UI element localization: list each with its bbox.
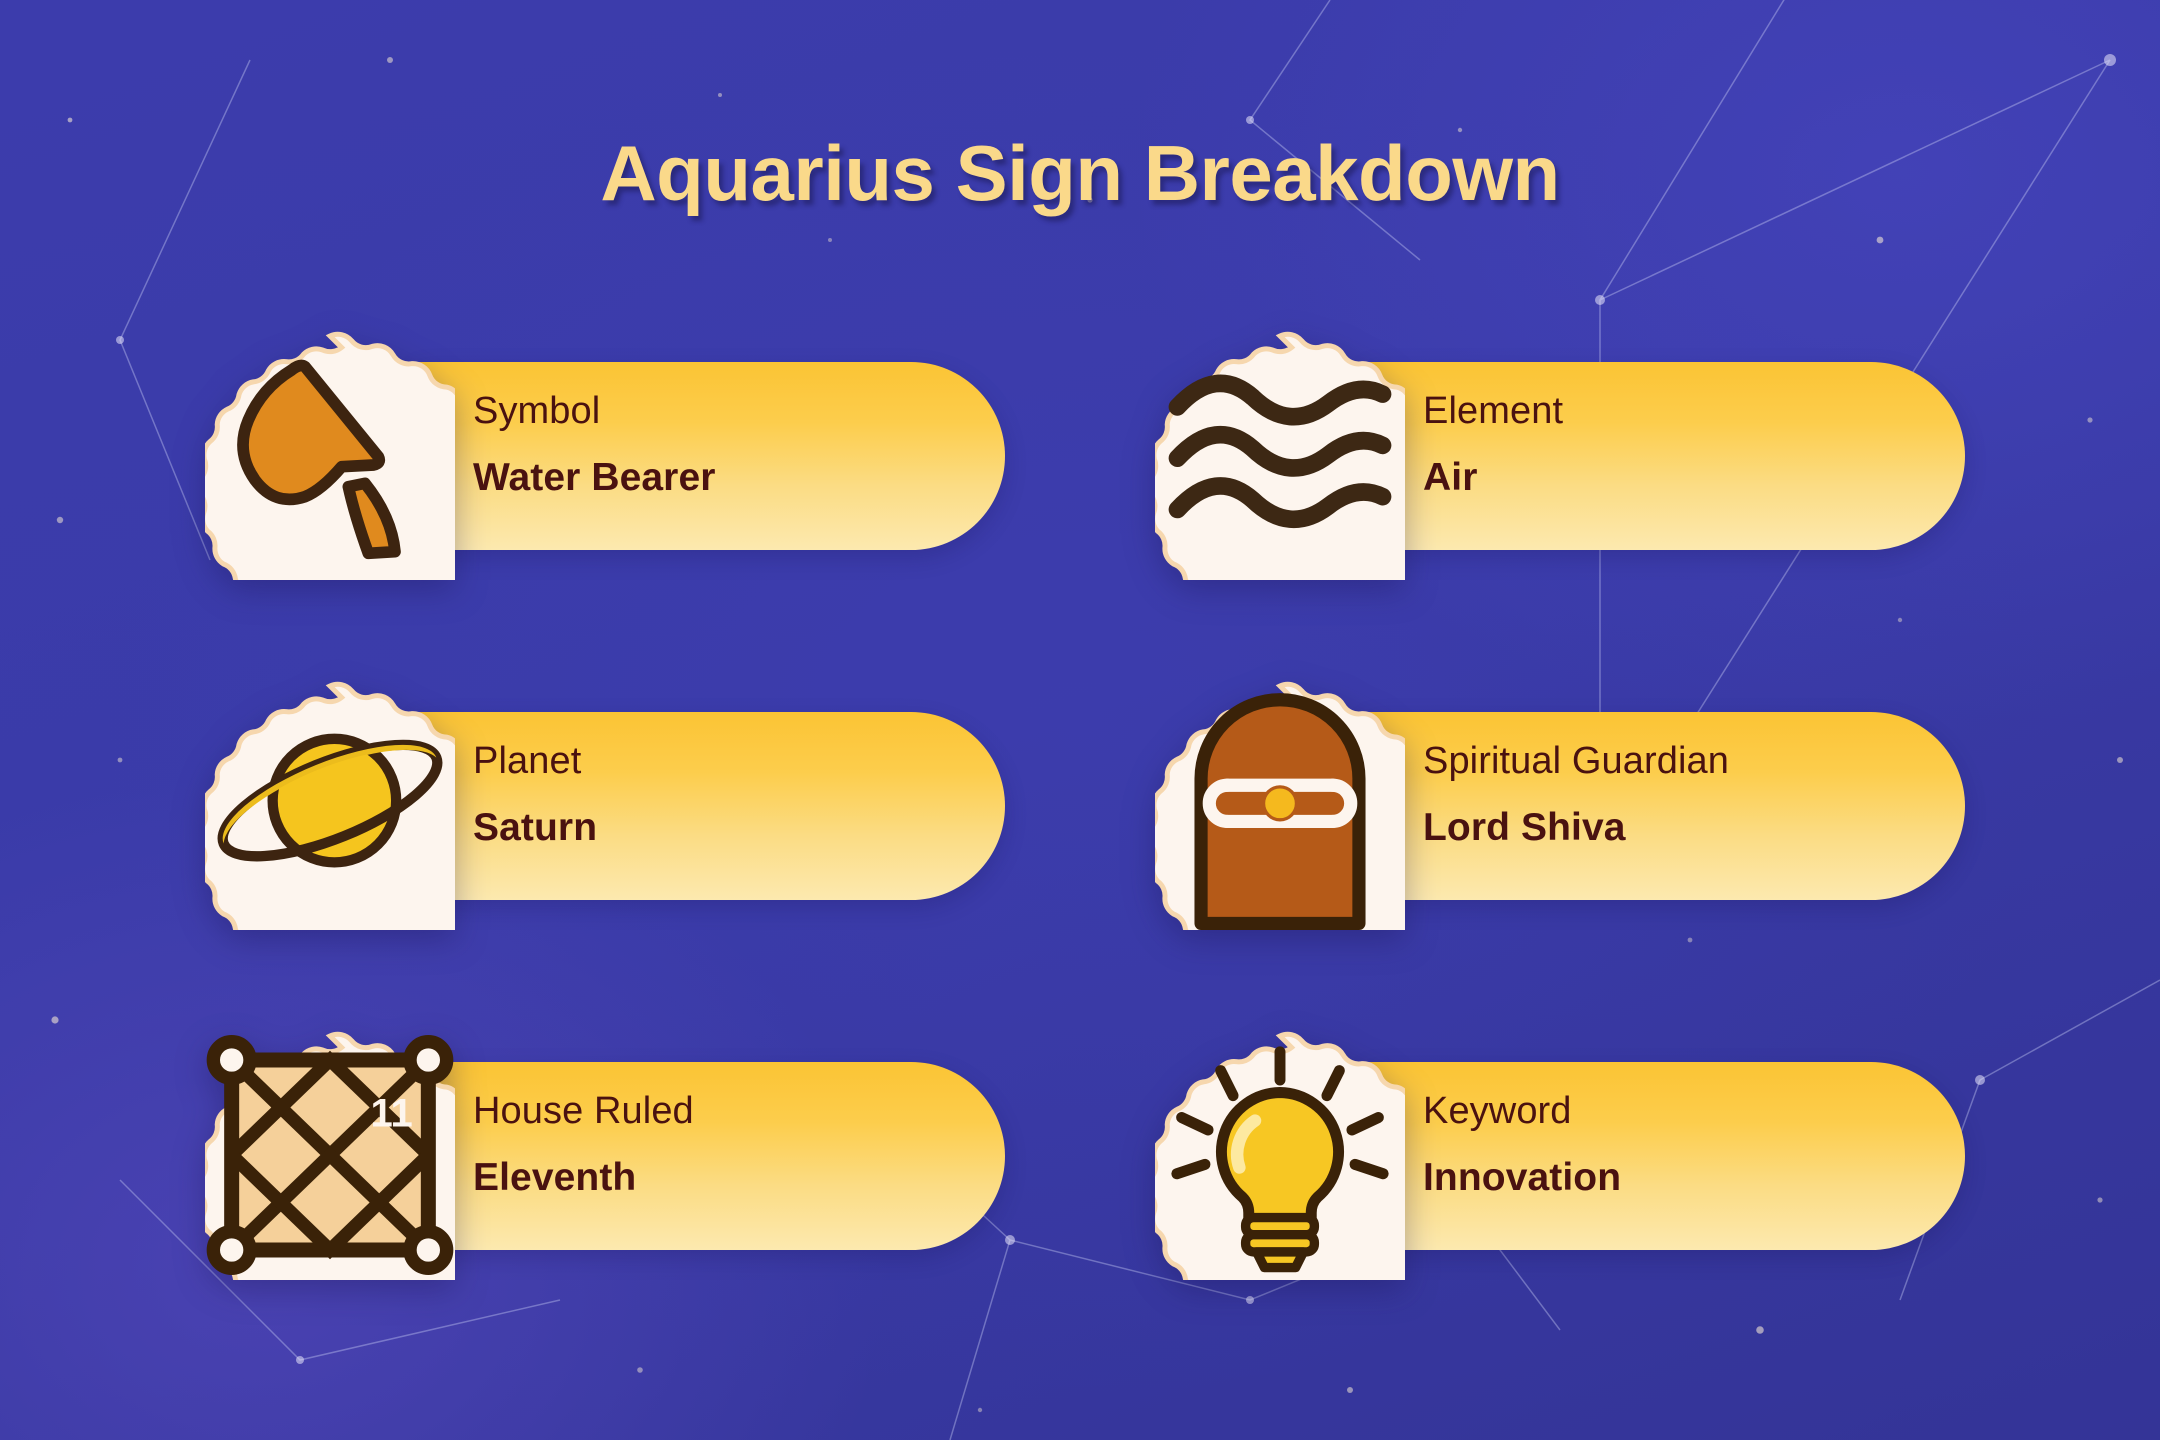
card-planet[interactable]: Planet Saturn	[205, 680, 1005, 930]
card-value: Lord Shiva	[1423, 808, 1943, 847]
badge-keyword	[1155, 1030, 1405, 1280]
card-label: Element	[1423, 392, 1943, 430]
card-symbol[interactable]: Symbol Water Bearer	[205, 330, 1005, 580]
poster-background: Aquarius Sign Breakdown Symbol Water Bea…	[0, 0, 2160, 1440]
card-text: Symbol Water Bearer	[473, 392, 993, 497]
grid-row: Planet Saturn	[0, 680, 2160, 1030]
card-label: Spiritual Guardian	[1423, 742, 1943, 780]
grid-row: House Ruled Eleventh	[0, 1030, 2160, 1380]
card-house-ruled[interactable]: House Ruled Eleventh	[205, 1030, 1005, 1280]
saturn-planet-icon	[205, 680, 455, 930]
badge-house-ruled: 11	[205, 1030, 455, 1280]
badge-element	[1155, 330, 1405, 580]
card-value: Water Bearer	[473, 458, 993, 497]
card-spiritual-guardian[interactable]: Spiritual Guardian Lord Shiva	[1155, 680, 1955, 930]
card-keyword[interactable]: Keyword Innovation	[1155, 1030, 1955, 1280]
attribute-grid: Symbol Water Bearer	[0, 330, 2160, 1380]
lightbulb-icon	[1155, 1030, 1405, 1280]
card-element[interactable]: Element Air	[1155, 330, 1955, 580]
card-text: Spiritual Guardian Lord Shiva	[1423, 742, 1943, 847]
card-label: House Ruled	[473, 1092, 993, 1130]
shiva-shrine-arch-icon	[1155, 680, 1405, 930]
wavy-lines-icon	[1155, 330, 1405, 580]
card-value: Innovation	[1423, 1158, 1943, 1197]
badge-planet	[205, 680, 455, 930]
grid-row: Symbol Water Bearer	[0, 330, 2160, 680]
page-title: Aquarius Sign Breakdown	[0, 128, 2160, 219]
badge-spiritual-guardian	[1155, 680, 1405, 930]
house-number: 11	[371, 1092, 413, 1136]
card-value: Eleventh	[473, 1158, 993, 1197]
card-label: Symbol	[473, 392, 993, 430]
house-chart-lattice-icon: 11	[205, 1030, 455, 1280]
card-value: Saturn	[473, 808, 993, 847]
badge-symbol	[205, 330, 455, 580]
card-label: Planet	[473, 742, 993, 780]
card-text: House Ruled Eleventh	[473, 1092, 993, 1197]
water-pitcher-icon	[205, 330, 455, 580]
card-value: Air	[1423, 458, 1943, 497]
card-text: Planet Saturn	[473, 742, 993, 847]
card-text: Element Air	[1423, 392, 1943, 497]
card-label: Keyword	[1423, 1092, 1943, 1130]
card-text: Keyword Innovation	[1423, 1092, 1943, 1197]
